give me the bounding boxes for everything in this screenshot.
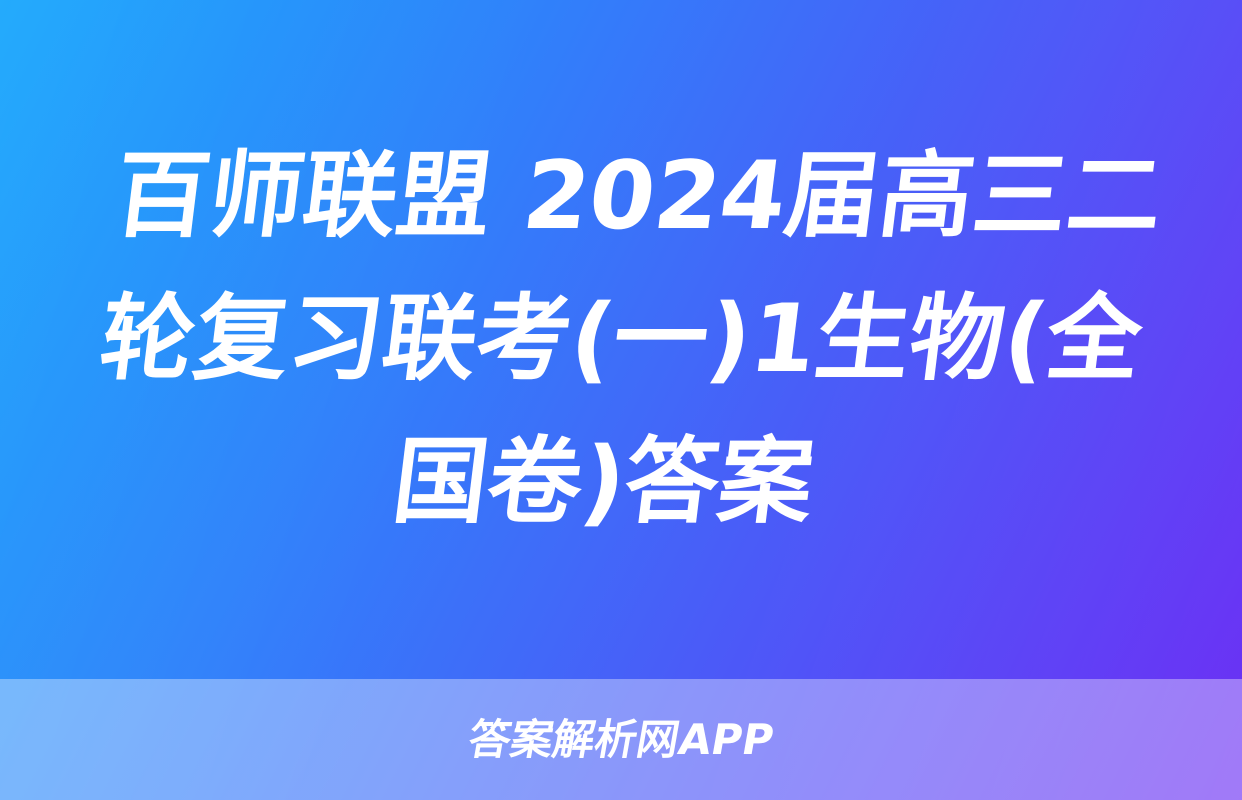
watermark-text: 答案解析网APP [465,719,776,761]
watermark-band: 答案解析网APP [0,679,1242,800]
page-title: 百师联盟 2024届高三二轮复习联考(一)1生物(全国卷)答案 [45,125,1198,554]
answer-poster: 百师联盟 2024届高三二轮复习联考(一)1生物(全国卷)答案 答案解析网APP [0,0,1242,800]
title-container: 百师联盟 2024届高三二轮复习联考(一)1生物(全国卷)答案 [0,0,1242,679]
